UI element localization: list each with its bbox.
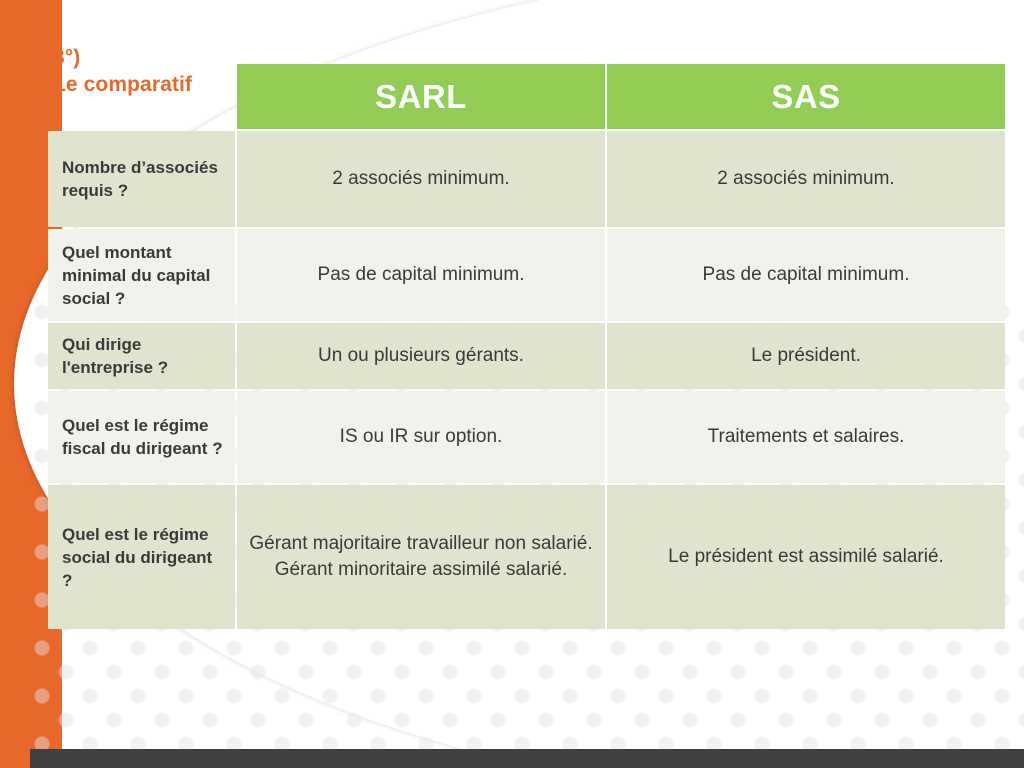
table-body: Nombre d’associés requis ? 2 associés mi…: [48, 131, 1005, 629]
table-header: SARL SAS: [48, 64, 1005, 129]
table-row: Qui dirige l'entreprise ? Un ou plusieur…: [48, 323, 1005, 389]
table-header-corner-cell: [48, 64, 235, 129]
table-row: Nombre d’associés requis ? 2 associés mi…: [48, 131, 1005, 227]
table-header-row: SARL SAS: [48, 64, 1005, 129]
row-sas-value: Pas de capital minimum.: [607, 229, 1005, 321]
comparison-table: SARL SAS Nombre d’associés requis ? 2 as…: [46, 62, 1007, 631]
row-question-label: Quel est le régime fiscal du dirigeant ?: [48, 391, 235, 483]
row-question-label: Quel montant minimal du capital social ?: [48, 229, 235, 321]
row-sarl-value: Gérant majoritaire travailleur non salar…: [237, 485, 605, 629]
table-row: Quel est le régime social du dirigeant ?…: [48, 485, 1005, 629]
row-sarl-value: Pas de capital minimum.: [237, 229, 605, 321]
table-header-sarl: SARL: [237, 64, 605, 129]
row-sarl-value: IS ou IR sur option.: [237, 391, 605, 483]
row-question-label: Nombre d’associés requis ?: [48, 131, 235, 227]
row-sas-value: Le président est assimilé salarié.: [607, 485, 1005, 629]
table-row: Quel est le régime fiscal du dirigeant ?…: [48, 391, 1005, 483]
row-sarl-value: 2 associés minimum.: [237, 131, 605, 227]
bottom-dark-bar-decoration: [30, 749, 1024, 768]
slide-canvas: 3°) Le comparatif SARL SAS Nombre d’asso…: [0, 0, 1024, 768]
row-sas-value: Traitements et salaires.: [607, 391, 1005, 483]
row-question-label: Qui dirige l'entreprise ?: [48, 323, 235, 389]
row-sas-value: Le président.: [607, 323, 1005, 389]
comparison-table-container: SARL SAS Nombre d’associés requis ? 2 as…: [46, 62, 999, 631]
row-sas-value: 2 associés minimum.: [607, 131, 1005, 227]
row-sarl-value: Un ou plusieurs gérants.: [237, 323, 605, 389]
table-row: Quel montant minimal du capital social ?…: [48, 229, 1005, 321]
table-header-sas: SAS: [607, 64, 1005, 129]
row-question-label: Quel est le régime social du dirigeant ?: [48, 485, 235, 629]
